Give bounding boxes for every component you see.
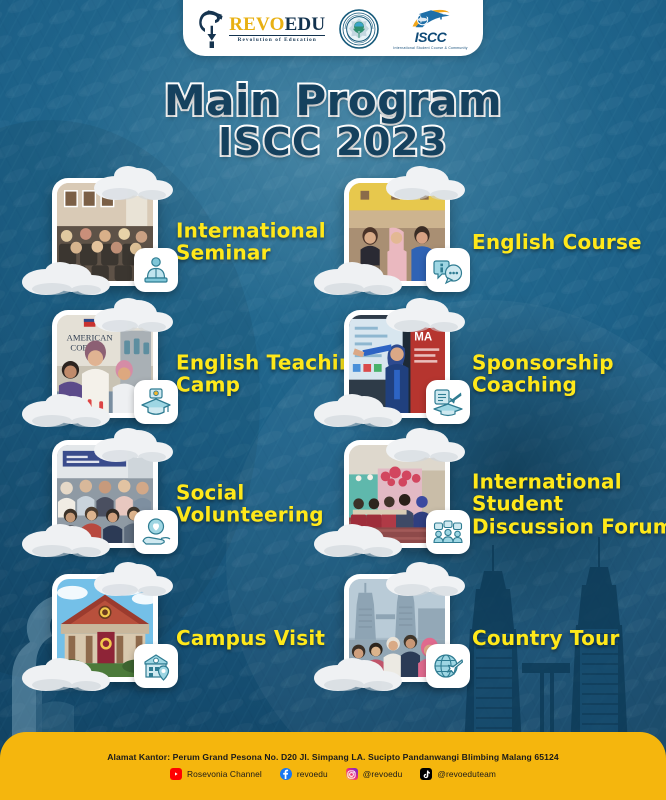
program-photo-card (344, 178, 450, 286)
logo-bar: REVOEDU Revolution of Education (183, 0, 483, 56)
revoedu-word-secondary: EDU (285, 14, 326, 35)
globe-plane-icon (426, 644, 470, 688)
university-seal-icon (339, 9, 379, 49)
program-item[interactable]: AMERICAN CORNER (52, 304, 385, 444)
speech-bubbles-icon (426, 248, 470, 292)
office-address: Alamat Kantor: Perum Grand Pesona No. D2… (107, 752, 559, 762)
scholarship-plane-icon (426, 380, 470, 424)
program-item[interactable]: English Course (344, 172, 666, 312)
program-item[interactable]: International Student Discussion Forum (344, 434, 666, 574)
svg-text:MA: MA (414, 330, 432, 343)
facebook-icon (280, 768, 292, 780)
program-label: Sponsorship Coaching (472, 352, 666, 397)
program-photo-card (344, 574, 450, 682)
iscc-mark-icon (405, 8, 457, 28)
footer-bar: Alamat Kantor: Perum Grand Pesona No. D2… (0, 732, 666, 800)
iscc-tagline: International Student Course & Community (393, 46, 467, 50)
program-photo-card (344, 440, 450, 548)
campus-building-pin-icon (134, 644, 178, 688)
iscc-logo: ISCC International Student Course & Comm… (393, 8, 467, 50)
program-label: Country Tour (472, 627, 666, 649)
instagram-icon (346, 768, 358, 780)
title-line-2: ISCC 2023 (0, 123, 666, 162)
title-line-1: Main Program (0, 80, 666, 123)
revoedu-tagline: Revolution of Education (229, 35, 325, 43)
svg-text:AMERICAN: AMERICAN (67, 332, 114, 342)
social-handle: @revoedu (363, 769, 403, 779)
social-link-tiktok[interactable]: @revoeduteam (420, 768, 496, 780)
revoedu-word-primary: REVO (229, 14, 284, 35)
program-photo-card (52, 178, 158, 286)
social-handle: revoedu (297, 769, 328, 779)
social-link-youtube[interactable]: Rosevonia Channel (170, 768, 262, 780)
social-links: Rosevonia Channel revoedu (170, 768, 496, 780)
revoedu-mark-icon (198, 9, 224, 49)
program-photo-card (52, 574, 158, 682)
program-item[interactable]: Country Tour (344, 568, 666, 708)
speaker-podium-icon (134, 248, 178, 292)
program-label: International Student Discussion Forum (472, 470, 666, 537)
program-photo-card: AMERICAN CORNER (52, 310, 158, 418)
poster-title: Main Program ISCC 2023 (0, 80, 666, 162)
program-label: English Course (472, 231, 666, 253)
iscc-wordmark: ISCC (415, 29, 446, 45)
graduation-cap-icon (134, 380, 178, 424)
program-photo-card: MA (344, 310, 450, 418)
social-handle: Rosevonia Channel (187, 769, 262, 779)
youtube-icon (170, 768, 182, 780)
revoedu-logo: REVOEDU Revolution of Education (198, 8, 325, 50)
hand-heart-icon (134, 510, 178, 554)
discussion-group-icon (426, 510, 470, 554)
program-photo-card (52, 440, 158, 548)
social-link-instagram[interactable]: @revoedu (346, 768, 403, 780)
poster: REVOEDU Revolution of Education (0, 0, 666, 800)
program-item[interactable]: MA (344, 304, 666, 444)
program-item[interactable]: International Seminar (52, 172, 385, 312)
social-link-facebook[interactable]: revoedu (280, 768, 328, 780)
university-seal-logo (339, 8, 379, 50)
tiktok-icon (420, 768, 432, 780)
program-grid: International Seminar (0, 172, 666, 732)
program-item[interactable]: Social Volunteering (52, 434, 385, 574)
social-handle: @revoeduteam (437, 769, 496, 779)
program-item[interactable]: Campus Visit (52, 568, 385, 708)
